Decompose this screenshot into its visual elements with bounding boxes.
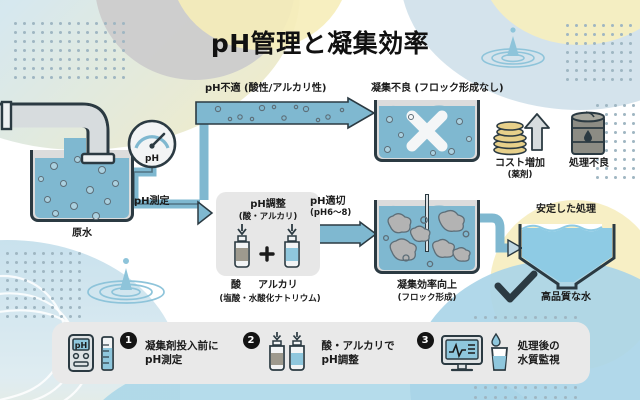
acid-alkali-bottles-icon (264, 332, 314, 374)
poor-flocculation-label: 凝集不良 (フロック形成なし) (371, 83, 504, 96)
step-2-text: 酸・アルカリで pH調整 (322, 339, 395, 367)
bubble (44, 196, 51, 203)
test-strip-icon (99, 333, 115, 373)
bubble (98, 166, 106, 174)
bubble (456, 118, 463, 125)
high-quality-water-label: 高品質な水 (506, 292, 626, 305)
summary-step-2[interactable]: 2 酸・アルカリで pH調整 (219, 322, 395, 384)
oil-drum-icon (566, 108, 610, 156)
water-glass-icon (488, 332, 510, 374)
summary-bar: pH 1 凝集剤投入前に pH測定 2 (52, 322, 590, 384)
acid-alkali-bottles-icon (228, 224, 308, 272)
bubble (70, 202, 78, 210)
step-number-badge: 2 (243, 332, 260, 349)
ph-adjust-title: pH調整 (216, 199, 320, 212)
flocculation-improved-label: 凝集効率向上 (358, 280, 496, 293)
bubble (86, 186, 94, 194)
svg-text:pH: pH (145, 154, 159, 164)
bubble (466, 136, 472, 142)
raw-water-label: 原水 (30, 228, 134, 241)
bubble (384, 146, 391, 153)
summary-step-3[interactable]: 3 処理後の 水質監視 (395, 322, 560, 384)
summary-step-1[interactable]: pH 1 凝集剤投入前に pH測定 (52, 322, 219, 384)
chemicals-sublabel: (塩酸・水酸化ナトリウム) (200, 294, 340, 305)
poor-flocculation-tank-icon (374, 100, 480, 162)
bubble (398, 132, 404, 138)
bubble (112, 180, 119, 187)
ph-measure-label: pH測定 (134, 196, 170, 209)
coins-up-icon (492, 110, 548, 154)
monitor-icon (440, 332, 486, 374)
bubble (60, 180, 67, 187)
stable-treatment-label: 安定した処理 (506, 204, 626, 217)
poor-treatment-label: 処理不良 (552, 158, 626, 171)
bubble (74, 156, 81, 163)
step-3-text: 処理後の 水質監視 (518, 339, 560, 367)
bubble (92, 212, 100, 220)
svg-text:pH: pH (75, 341, 87, 350)
bubble (38, 176, 44, 182)
page-title: pH管理と凝集効率 (0, 24, 640, 60)
bubble (50, 162, 58, 170)
bubble (448, 148, 455, 155)
ph-adjust-subtitle: (酸・アルカリ) (216, 212, 320, 223)
acid-label: 酸 (231, 280, 241, 293)
alkali-label: アルカリ (258, 280, 298, 293)
cost-increase-sublabel: (薬剤) (476, 170, 564, 181)
ph-unsuitable-arrow (196, 98, 374, 134)
bubble (52, 210, 59, 217)
step-number-badge: 1 (120, 332, 137, 349)
ph-suitable-arrow (318, 222, 376, 248)
ph-suitable-range: (pH6〜8) (310, 208, 351, 219)
ph-meter-icon: pH (66, 333, 96, 373)
cost-increase-label: コスト増加 (476, 158, 564, 171)
bubble (430, 150, 436, 156)
bubble (408, 114, 414, 120)
flocculation-improved-sublabel: (フロック形成) (358, 293, 496, 304)
ph-unsuitable-label: pH不適 (酸性/アルカリ性) (205, 83, 326, 96)
step-1-text: 凝集剤投入前に pH測定 (145, 339, 219, 367)
step-number-badge: 3 (417, 332, 434, 349)
infographic-canvas: pH管理と凝集効率 原水 pH pH測定 (0, 0, 640, 400)
ph-gauge-icon: pH (124, 118, 180, 174)
bubble (386, 116, 393, 123)
floc-particles-icon (378, 206, 478, 272)
bubble (104, 198, 111, 205)
inlet-pipe-icon (0, 96, 136, 166)
ph-suitable-label: pH適切 (310, 196, 346, 209)
